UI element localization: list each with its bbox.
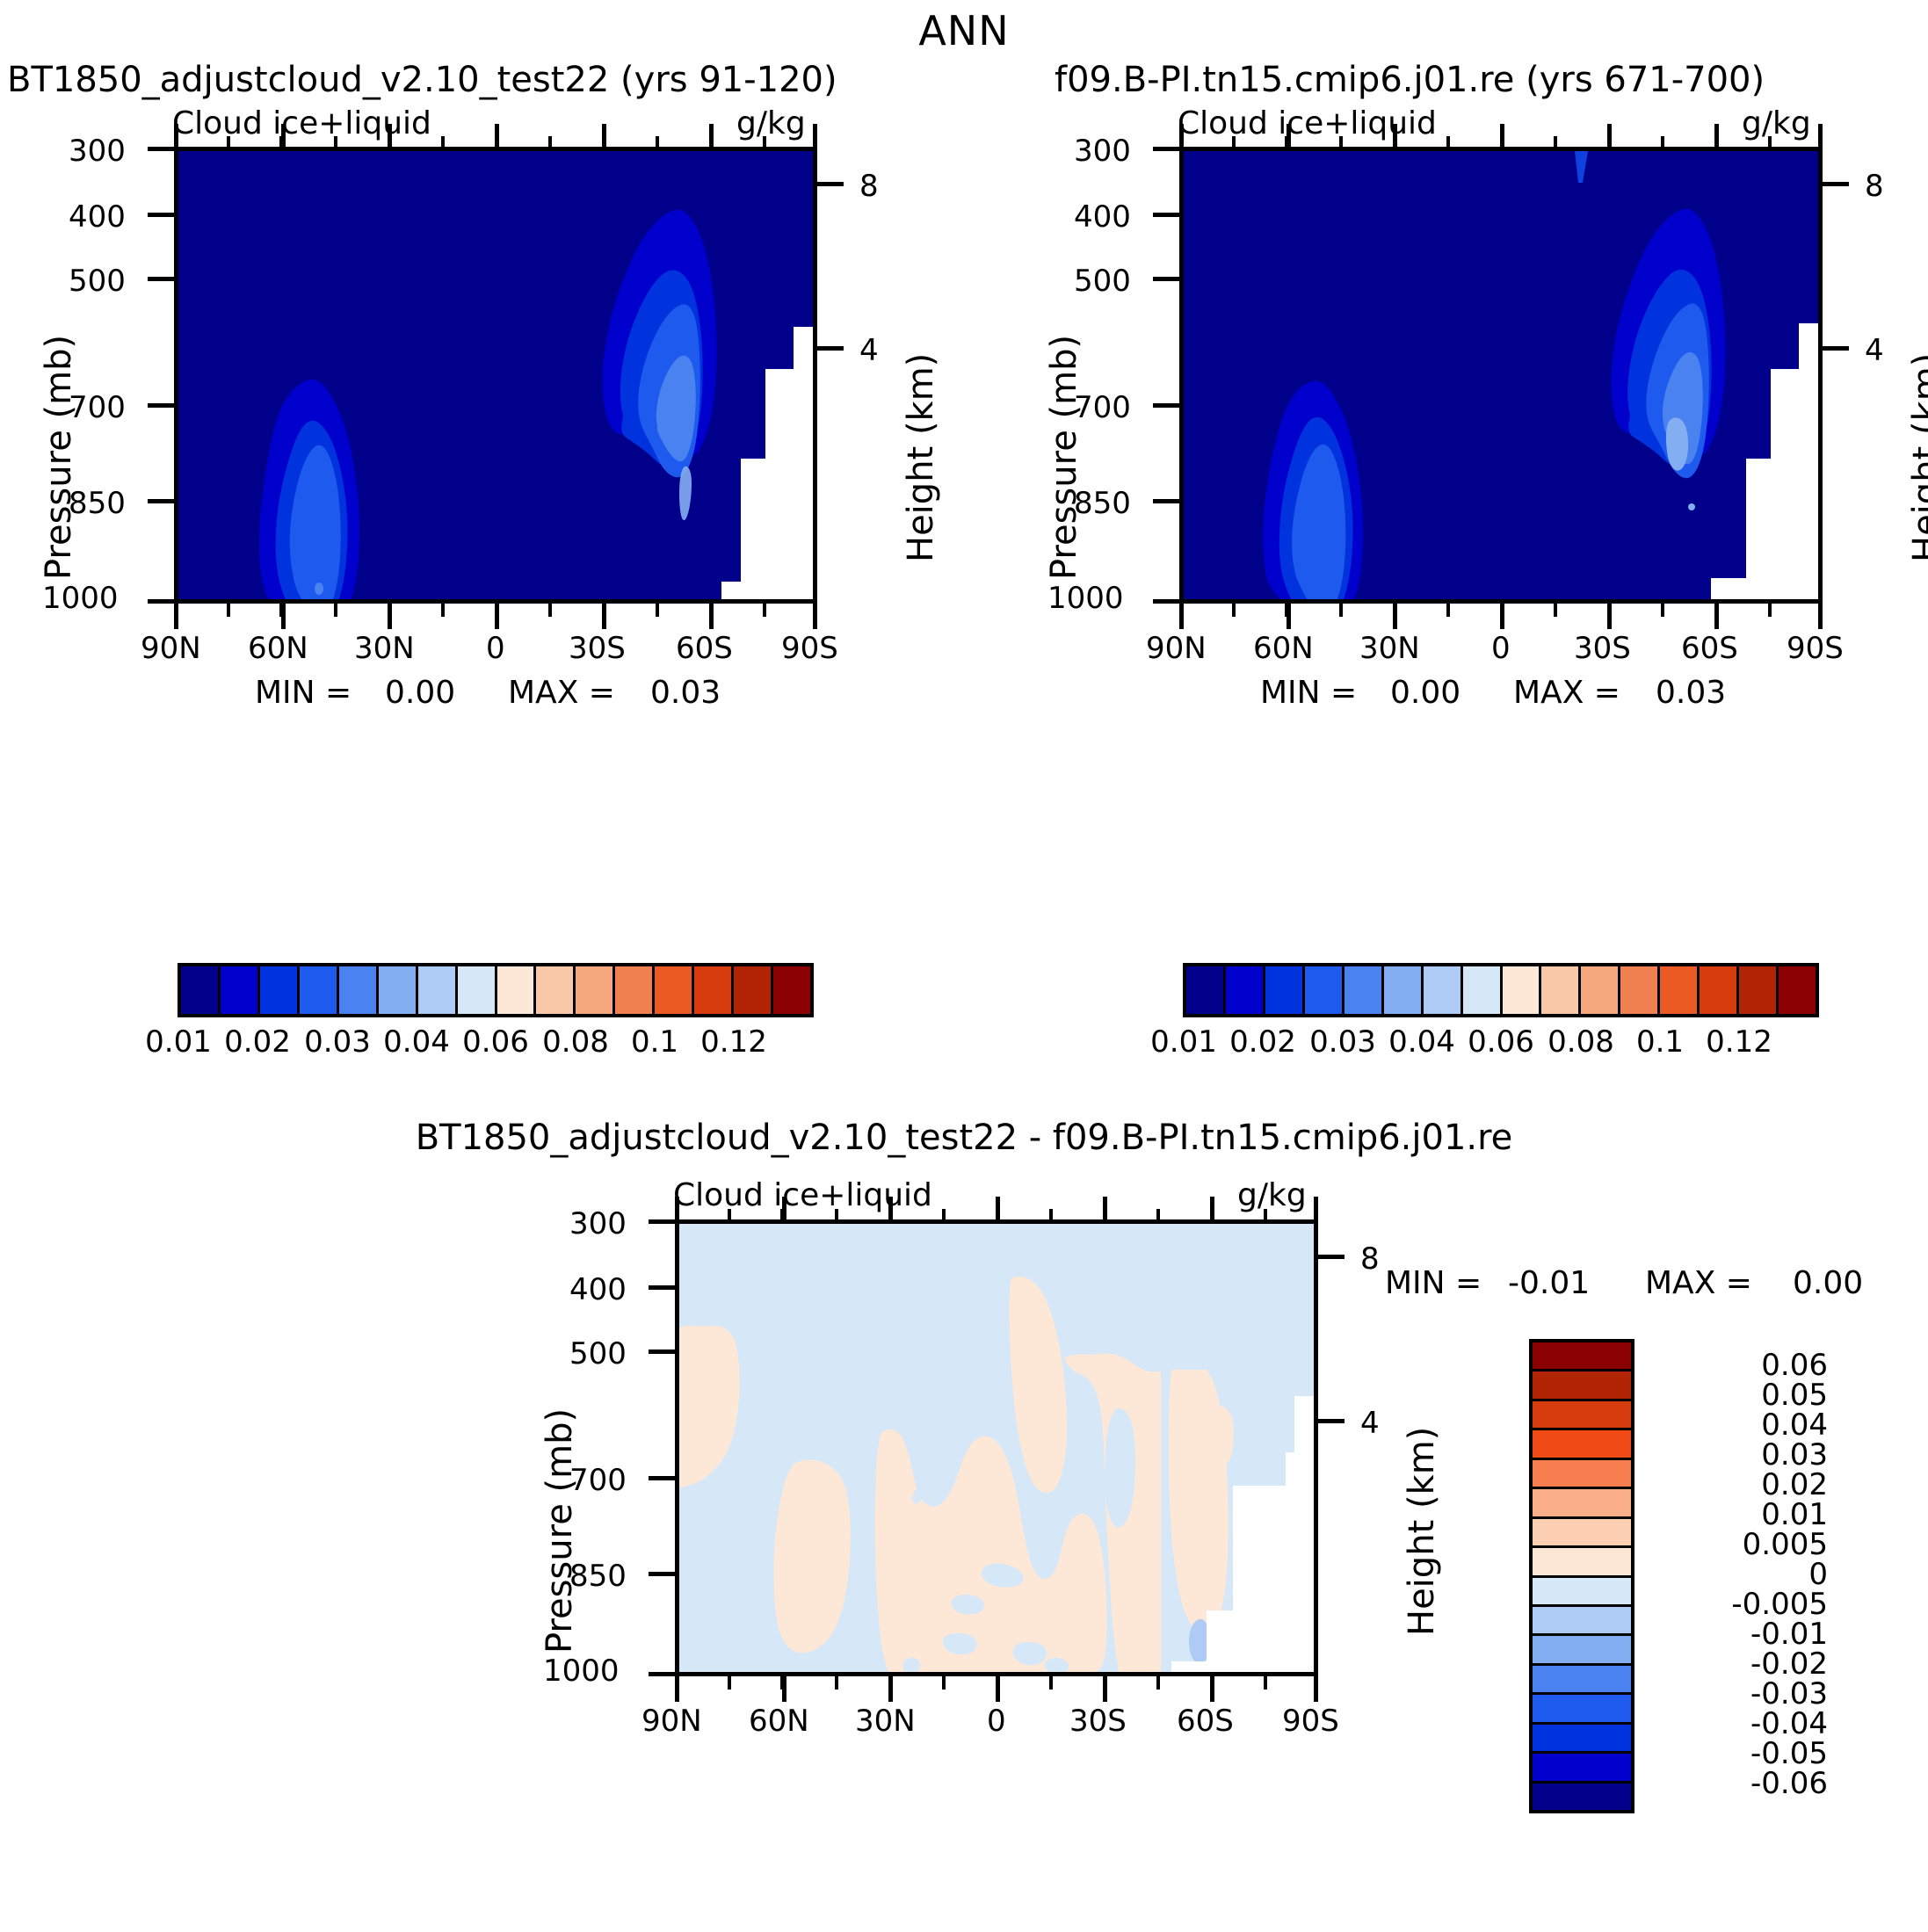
panel-left-y2tick-4: 4 — [859, 333, 879, 368]
colorbar-swatch-3 — [300, 966, 339, 1014]
panel-diff-max-value: 0.00 — [1793, 1265, 1863, 1301]
colorbar-swatch-7 — [458, 966, 497, 1014]
panel-right-xtick-60N: 60N — [1253, 631, 1314, 666]
panel-diff-min-value: -0.01 — [1508, 1265, 1590, 1301]
panel-right-ytick-700: 700 — [1074, 390, 1131, 425]
panel-left-max-label: MAX = — [508, 675, 615, 711]
colorbar-swatch-0 — [1186, 966, 1226, 1014]
panel-left-xtick-90S: 90S — [781, 631, 838, 666]
diff-colorbar-swatch-3 — [1533, 1430, 1631, 1459]
panel-diff-xtick-30N: 30N — [855, 1704, 916, 1739]
panel-left-xtick-90N: 90N — [141, 631, 201, 666]
colorbar-swatch-14 — [734, 966, 773, 1014]
colorbar-swatch-0 — [181, 966, 221, 1014]
panel-diff-ytick-500: 500 — [569, 1336, 627, 1371]
colorbar-swatch-15 — [773, 966, 810, 1014]
cbar-label: 0.12 — [694, 1024, 773, 1060]
panel-left-xtick-60S: 60S — [676, 631, 733, 666]
panel-diff-colorbar[interactable] — [1529, 1339, 1634, 1813]
diff-colorbar-swatch-2 — [1533, 1401, 1631, 1430]
panel-left-y2tick-8: 8 — [859, 169, 879, 204]
panel-left-plot — [174, 147, 817, 604]
panel-title-diff: BT1850_adjustcloud_v2.10_test22 - f09.B-… — [0, 1118, 1928, 1158]
colorbar-swatch-6 — [418, 966, 458, 1014]
panel-right-colorbar[interactable] — [1183, 963, 1819, 1017]
panel-diff-contour-field — [679, 1224, 1314, 1672]
diff-colorbar-swatch-0 — [1533, 1342, 1631, 1371]
cbar-label: 0.08 — [1541, 1024, 1620, 1060]
diff-colorbar-swatch-9 — [1533, 1607, 1631, 1636]
panel-diff-colorbar-labels: 0.06 0.05 0.04 0.03 0.02 0.01 0.005 0 -0… — [1634, 1339, 1845, 1813]
diff-colorbar-swatch-5 — [1533, 1489, 1631, 1518]
panel-right-xtick-30N: 30N — [1359, 631, 1420, 666]
panel-right-min-value: 0.00 — [1390, 675, 1460, 711]
panel-right-units-label: g/kg — [1742, 105, 1811, 141]
colorbar-swatch-13 — [694, 966, 734, 1014]
colorbar-swatch-2 — [1265, 966, 1305, 1014]
cbar-label: 0.1 — [615, 1024, 694, 1060]
diff-colorbar-swatch-12 — [1533, 1695, 1631, 1724]
panel-left-colorbar-labels: 0.01 0.02 0.03 0.04 0.06 0.08 0.1 0.12 — [178, 1024, 814, 1063]
panel-right-y2tick-4: 4 — [1865, 333, 1884, 368]
panel-left-ytick-850: 850 — [69, 486, 126, 521]
panel-left-xtick-0: 0 — [486, 631, 505, 666]
panel-diff-xtick-90S: 90S — [1282, 1704, 1339, 1739]
colorbar-swatch-10 — [1581, 966, 1620, 1014]
cbar-label: 0.12 — [1700, 1024, 1779, 1060]
panel-left-min-label: MIN = — [255, 675, 352, 711]
panel-diff-y2tick-4: 4 — [1360, 1406, 1380, 1441]
figure-title: ANN — [0, 7, 1928, 54]
cbar-label: 0.03 — [1303, 1024, 1382, 1060]
panel-diff-xtick-60N: 60N — [749, 1704, 809, 1739]
colorbar-swatch-4 — [1345, 966, 1384, 1014]
diff-colorbar-swatch-14 — [1533, 1754, 1631, 1783]
panel-right-contour-field — [1184, 151, 1818, 599]
panel-diff-xtick-30S: 30S — [1069, 1704, 1127, 1739]
diff-colorbar-swatch-8 — [1533, 1578, 1631, 1607]
diff-colorbar-swatch-10 — [1533, 1636, 1631, 1665]
colorbar-swatch-9 — [536, 966, 576, 1014]
panel-left-contour-svg — [178, 151, 813, 599]
panel-left-xtick-30N: 30N — [354, 631, 415, 666]
panel-right-min-label: MIN = — [1260, 675, 1357, 711]
colorbar-swatch-3 — [1305, 966, 1345, 1014]
cbar-label: 0.01 — [139, 1024, 218, 1060]
panel-left-units-label: g/kg — [736, 105, 806, 141]
panel-right-xtick-60S: 60S — [1681, 631, 1738, 666]
panel-left-xtick-30S: 30S — [569, 631, 626, 666]
diff-colorbar-swatch-6 — [1533, 1519, 1631, 1548]
panel-left-ytick-700: 700 — [69, 390, 126, 425]
panel-right-ytick-300: 300 — [1074, 134, 1131, 169]
panel-right-contour-svg — [1184, 151, 1818, 599]
colorbar-swatch-9 — [1541, 966, 1581, 1014]
cbar-label: 0.03 — [298, 1024, 377, 1060]
cbar-label: 0.02 — [1223, 1024, 1302, 1060]
panel-diff-xtick-90N: 90N — [641, 1704, 702, 1739]
cbar-label: 0.1 — [1620, 1024, 1700, 1060]
panel-right-ytick-1000: 1000 — [1047, 581, 1124, 616]
panel-left-min-value: 0.00 — [385, 675, 455, 711]
panel-right-ytick-400: 400 — [1074, 199, 1131, 235]
cbar-label: 0.04 — [1382, 1024, 1461, 1060]
panel-left-ytick-1000: 1000 — [42, 581, 119, 616]
panel-right-plot — [1179, 147, 1823, 604]
colorbar-swatch-14 — [1739, 966, 1779, 1014]
panel-right-y2-axis-title: Height (km) — [1906, 353, 1928, 562]
panel-diff-ytick-700: 700 — [569, 1463, 627, 1498]
panel-right-variable-label: Cloud ice+liquid — [1178, 105, 1437, 141]
panel-right-max-label: MAX = — [1513, 675, 1620, 711]
diff-colorbar-swatch-7 — [1533, 1548, 1631, 1577]
panel-right-max-value: 0.03 — [1656, 675, 1726, 711]
panel-right-xtick-0: 0 — [1491, 631, 1511, 666]
colorbar-swatch-11 — [615, 966, 655, 1014]
panel-left-y-axis-title: Pressure (mb) — [39, 335, 79, 580]
panel-diff-contour-svg — [679, 1224, 1314, 1672]
panel-left-contour-field — [178, 151, 813, 599]
colorbar-swatch-12 — [1660, 966, 1700, 1014]
cbar-label: -0.06 — [1634, 1766, 1828, 1801]
panel-diff-ytick-300: 300 — [569, 1206, 627, 1241]
cbar-label: 0.06 — [1461, 1024, 1540, 1060]
panel-left-colorbar[interactable] — [178, 963, 814, 1017]
colorbar-swatch-6 — [1424, 966, 1463, 1014]
panel-diff-units-label: g/kg — [1237, 1177, 1307, 1213]
panel-left-y2-axis-title: Height (km) — [901, 353, 941, 562]
cbar-label: 0.06 — [456, 1024, 535, 1060]
panel-left-variable-label: Cloud ice+liquid — [172, 105, 431, 141]
colorbar-swatch-10 — [576, 966, 615, 1014]
colorbar-swatch-12 — [655, 966, 694, 1014]
diff-colorbar-swatch-13 — [1533, 1725, 1631, 1754]
colorbar-swatch-1 — [221, 966, 260, 1014]
panel-diff-ytick-850: 850 — [569, 1559, 627, 1594]
colorbar-swatch-2 — [260, 966, 300, 1014]
diff-colorbar-swatch-1 — [1533, 1371, 1631, 1400]
panel-diff-ytick-400: 400 — [569, 1272, 627, 1307]
diff-colorbar-swatch-15 — [1533, 1784, 1631, 1810]
colorbar-swatch-1 — [1226, 966, 1265, 1014]
panel-title-left: BT1850_adjustcloud_v2.10_test22 (yrs 91-… — [7, 60, 837, 100]
panel-diff-xtick-60S: 60S — [1177, 1704, 1234, 1739]
colorbar-swatch-4 — [339, 966, 379, 1014]
panel-diff-min-label: MIN = — [1385, 1265, 1482, 1301]
panel-right-xtick-30S: 30S — [1574, 631, 1631, 666]
colorbar-swatch-5 — [1384, 966, 1424, 1014]
panel-title-right: f09.B-PI.tn15.cmip6.j01.re (yrs 671-700) — [1055, 60, 1765, 100]
panel-diff-y2tick-8: 8 — [1360, 1241, 1380, 1277]
colorbar-swatch-7 — [1463, 966, 1503, 1014]
colorbar-swatch-5 — [379, 966, 418, 1014]
panel-right-colorbar-labels: 0.01 0.02 0.03 0.04 0.06 0.08 0.1 0.12 — [1183, 1024, 1819, 1063]
cbar-label: 0.04 — [377, 1024, 456, 1060]
panel-left-ytick-400: 400 — [69, 199, 126, 235]
panel-diff-ytick-1000: 1000 — [543, 1653, 620, 1689]
panel-diff-y2-axis-title: Height (km) — [1402, 1427, 1442, 1636]
cbar-label: 0.02 — [218, 1024, 297, 1060]
panel-diff-max-label: MAX = — [1645, 1265, 1752, 1301]
panel-right-y2tick-8: 8 — [1865, 169, 1884, 204]
panel-right-xtick-90N: 90N — [1146, 631, 1207, 666]
panel-right-ytick-500: 500 — [1074, 264, 1131, 299]
colorbar-swatch-13 — [1700, 966, 1739, 1014]
colorbar-swatch-8 — [497, 966, 537, 1014]
panel-right-ytick-850: 850 — [1074, 486, 1131, 521]
panel-left-ytick-300: 300 — [69, 134, 126, 169]
colorbar-swatch-11 — [1620, 966, 1660, 1014]
panel-left-max-value: 0.03 — [650, 675, 721, 711]
panel-diff-plot — [675, 1219, 1318, 1676]
panel-left-xtick-60N: 60N — [248, 631, 308, 666]
panel-right-y-axis-title: Pressure (mb) — [1044, 335, 1084, 580]
diff-colorbar-swatch-4 — [1533, 1460, 1631, 1489]
panel-diff-y-axis-title: Pressure (mb) — [540, 1408, 580, 1653]
panel-left-ytick-500: 500 — [69, 264, 126, 299]
cbar-label: 0.08 — [536, 1024, 615, 1060]
panel-right-xtick-90S: 90S — [1787, 631, 1844, 666]
panel-diff-xtick-0: 0 — [987, 1704, 1006, 1739]
diff-colorbar-swatch-11 — [1533, 1666, 1631, 1695]
panel-diff-variable-label: Cloud ice+liquid — [673, 1177, 932, 1213]
colorbar-swatch-8 — [1503, 966, 1542, 1014]
colorbar-swatch-15 — [1779, 966, 1816, 1014]
cbar-label: 0.01 — [1144, 1024, 1223, 1060]
